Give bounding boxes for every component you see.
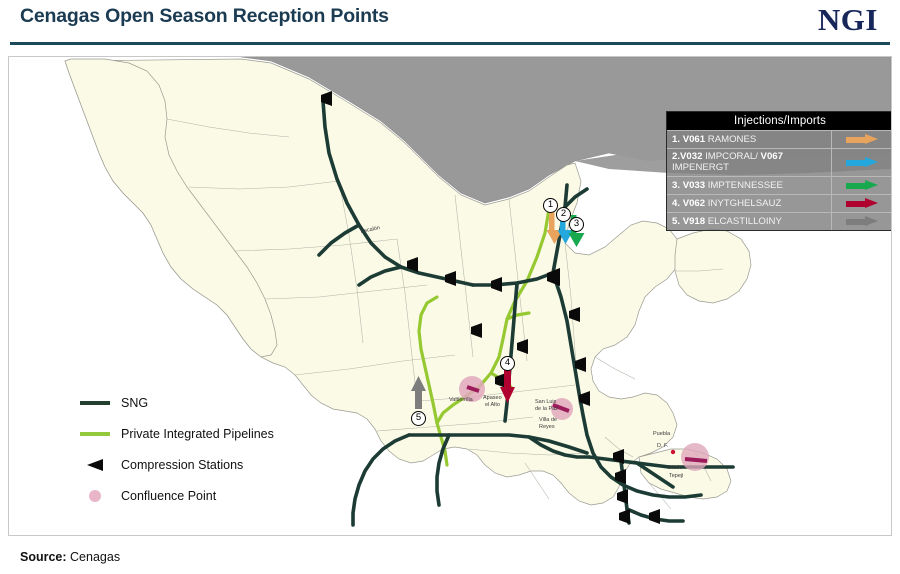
injection-5-code: V918	[683, 216, 705, 227]
gray-arrow-icon	[846, 216, 880, 227]
source-label: Source:	[20, 550, 67, 564]
injections-table-title: Injections/Imports	[667, 112, 892, 130]
slide-page: Cenagas Open Season Reception Points NGI	[0, 0, 900, 574]
label-villareyes: Villa de	[539, 417, 557, 423]
map-marker-3[interactable]: 3	[569, 217, 584, 232]
injection-4-name: INYTGHELSAUZ	[708, 198, 782, 209]
injection-row-2-text: 2.V032 IMPCORAL/ V067 IMPENERGT	[667, 149, 831, 176]
key-row-sng: SNG	[77, 387, 274, 418]
map-frame[interactable]: Escalón Valtierrilla Apaseo el Alto San …	[8, 56, 892, 536]
confluence-point-icon	[77, 490, 113, 502]
injection-3-index: 3.	[672, 180, 680, 191]
label-sanluis2: de la Paz	[535, 406, 558, 412]
injection-5-index: 5.	[672, 216, 680, 227]
injection-1-name: RAMONES	[708, 134, 757, 145]
crimson-arrow-icon	[846, 198, 880, 209]
label-apaseo: Apaseo	[483, 395, 502, 401]
key-row-compression: Compression Stations	[77, 449, 274, 480]
injection-2-code2: V067	[761, 151, 783, 162]
orange-arrow-icon	[846, 134, 880, 145]
key-label-compression: Compression Stations	[121, 458, 243, 472]
injection-1-arrow-cell	[831, 131, 892, 148]
injection-row-4[interactable]: 4. V062 INYTGHELSAUZ	[667, 194, 892, 212]
compression-station-icon	[77, 459, 113, 471]
label-sanluis: San Luis	[535, 399, 557, 405]
label-villareyes2: Reyes	[539, 424, 555, 430]
injection-3-arrow-cell	[831, 177, 892, 194]
label-df: D. F.	[657, 443, 669, 449]
injection-row-1-text: 1. V061 RAMONES	[667, 132, 831, 147]
ngi-logo: NGI	[818, 2, 878, 38]
header: Cenagas Open Season Reception Points NGI	[0, 0, 900, 46]
label-nudo: Nudo	[669, 465, 682, 471]
injection-1-code: V061	[683, 134, 705, 145]
df-marker-dot	[671, 450, 675, 454]
injection-2-name2: IMPENERGT	[672, 162, 729, 173]
injection-row-5[interactable]: 5. V918 ELCASTILLOINY	[667, 212, 892, 230]
injection-row-5-text: 5. V918 ELCASTILLOINY	[667, 214, 831, 229]
injections-imports-table: Injections/Imports 1. V061 RAMONES 2.V03…	[666, 111, 892, 231]
label-valtierrilla: Valtierrilla	[449, 397, 474, 403]
injection-row-3[interactable]: 3. V033 IMPTENNESSEE	[667, 176, 892, 194]
injection-5-arrow-cell	[831, 213, 892, 230]
injection-4-arrow-cell	[831, 195, 892, 212]
injection-2-index: 2.	[672, 151, 680, 162]
injection-2-arrow-cell	[831, 149, 892, 176]
sng-line-icon	[77, 401, 113, 405]
injection-1-index: 1.	[672, 134, 680, 145]
injection-row-3-text: 3. V033 IMPTENNESSEE	[667, 178, 831, 193]
key-label-confluence: Confluence Point	[121, 489, 216, 503]
map-key-legend: SNG Private Integrated Pipelines Compres…	[77, 387, 274, 511]
injection-row-1[interactable]: 1. V061 RAMONES	[667, 130, 892, 148]
label-tepeji: Tepeji	[669, 473, 683, 479]
map-marker-4[interactable]: 4	[500, 356, 515, 371]
key-label-sng: SNG	[121, 396, 148, 410]
header-divider	[10, 42, 890, 45]
injection-row-2[interactable]: 2.V032 IMPCORAL/ V067 IMPENERGT	[667, 148, 892, 176]
key-row-confluence: Confluence Point	[77, 480, 274, 511]
injection-3-name: IMPTENNESSEE	[708, 180, 783, 191]
label-puebla: Puebla	[653, 431, 671, 437]
map-marker-2[interactable]: 2	[556, 207, 571, 222]
source-note: Source: Cenagas	[20, 550, 120, 564]
label-apaseo2: el Alto	[485, 402, 500, 408]
source-value: Cenagas	[70, 550, 120, 564]
private-line-icon	[77, 432, 113, 436]
key-label-private: Private Integrated Pipelines	[121, 427, 274, 441]
key-row-private: Private Integrated Pipelines	[77, 418, 274, 449]
injection-5-name: ELCASTILLOINY	[708, 216, 782, 227]
injection-4-index: 4.	[672, 198, 680, 209]
injection-2-name: IMPCORAL/	[705, 151, 758, 162]
green-arrow-icon	[846, 180, 880, 191]
map-marker-5[interactable]: 5	[411, 411, 426, 426]
injection-2-code: V032	[680, 151, 702, 162]
injection-row-4-text: 4. V062 INYTGHELSAUZ	[667, 196, 831, 211]
page-title: Cenagas Open Season Reception Points	[20, 5, 389, 28]
injection-3-code: V033	[683, 180, 705, 191]
injection-4-code: V062	[683, 198, 705, 209]
cyan-arrow-icon	[846, 157, 880, 168]
